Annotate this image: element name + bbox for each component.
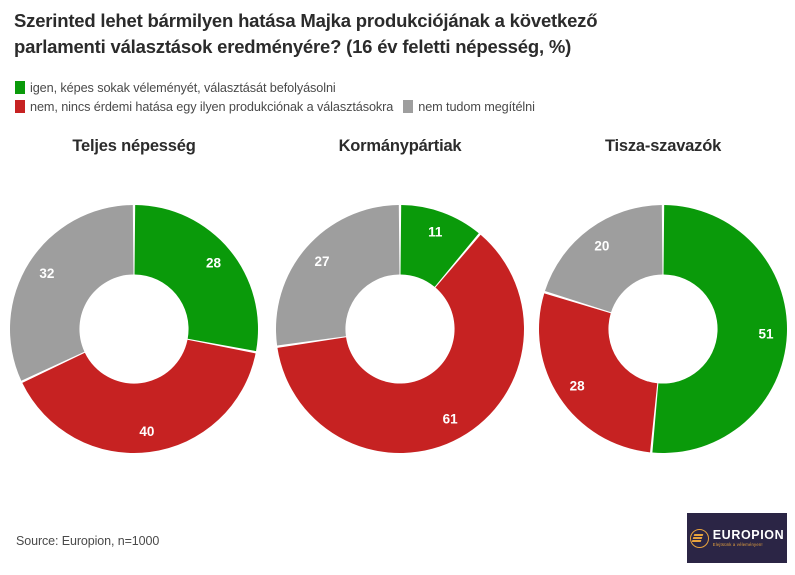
donut-chart-tisza-szavazok: 512820	[537, 203, 789, 455]
donut-slice-label: 27	[315, 254, 330, 269]
europion-emblem-icon	[690, 529, 709, 548]
donut-slice	[539, 293, 657, 452]
donut-slice-label: 28	[206, 256, 222, 271]
donut-slice	[135, 205, 258, 351]
source-note: Source: Europion, n=1000	[16, 534, 159, 548]
legend-item-nem: nem, nincs érdemi hatása egy ilyen produ…	[15, 100, 393, 114]
donut-slice-label: 11	[428, 225, 443, 240]
legend-swatch-red	[15, 100, 25, 113]
chart-title-teljes-nepesseg: Teljes népesség	[4, 137, 264, 156]
infographic-page: Szerinted lehet bármilyen hatása Majka p…	[0, 0, 795, 575]
donut-slice-label: 51	[759, 326, 775, 341]
donut-chart-kormanypartiak: 116127	[274, 203, 526, 455]
legend-row-1: igen, képes sokak véleményét, választásá…	[15, 78, 780, 97]
page-title: Szerinted lehet bármilyen hatása Majka p…	[14, 8, 779, 60]
legend-swatch-green	[15, 81, 25, 94]
chart-legend: igen, képes sokak véleményét, választásá…	[15, 78, 780, 116]
donut-slice-label: 61	[443, 412, 459, 427]
logo-inner: EUROPION Elejtsünk a véleményen!	[690, 529, 784, 548]
donut-slice-label: 40	[139, 424, 154, 439]
logo-wordmark: EUROPION	[713, 529, 784, 542]
logo-text-wrap: EUROPION Elejtsünk a véleményen!	[713, 529, 784, 548]
legend-swatch-gray	[403, 100, 413, 113]
donut-slice-label: 28	[570, 379, 586, 394]
title-line-1: Szerinted lehet bármilyen hatása Majka p…	[14, 8, 779, 34]
europion-logo: EUROPION Elejtsünk a véleményen!	[687, 513, 787, 563]
donut-slice-label: 20	[594, 238, 609, 253]
legend-label-nemtudom: nem tudom megítélni	[418, 100, 535, 114]
donut-slice	[276, 205, 399, 345]
legend-row-2: nem, nincs érdemi hatása egy ilyen produ…	[15, 97, 780, 116]
donut-svg: 284032	[8, 203, 260, 455]
donut-slice-label: 32	[39, 266, 54, 281]
legend-item-nemtudom: nem tudom megítélni	[403, 100, 535, 114]
legend-label-igen: igen, képes sokak véleményét, választásá…	[30, 81, 336, 95]
title-line-2: parlamenti választások eredményére? (16 …	[14, 34, 779, 60]
donut-svg: 512820	[537, 203, 789, 455]
legend-label-nem: nem, nincs érdemi hatása egy ilyen produ…	[30, 100, 393, 114]
donut-slice	[10, 205, 133, 381]
chart-title-kormanypartiak: Kormánypártiak	[270, 137, 530, 156]
legend-item-igen: igen, képes sokak véleményét, választásá…	[15, 81, 336, 95]
donut-chart-teljes-nepesseg: 284032	[8, 203, 260, 455]
logo-tagline: Elejtsünk a véleményen!	[713, 542, 784, 548]
donut-svg: 116127	[274, 203, 526, 455]
chart-title-tisza-szavazok: Tisza-szavazók	[533, 137, 793, 156]
donut-slice	[545, 205, 663, 312]
